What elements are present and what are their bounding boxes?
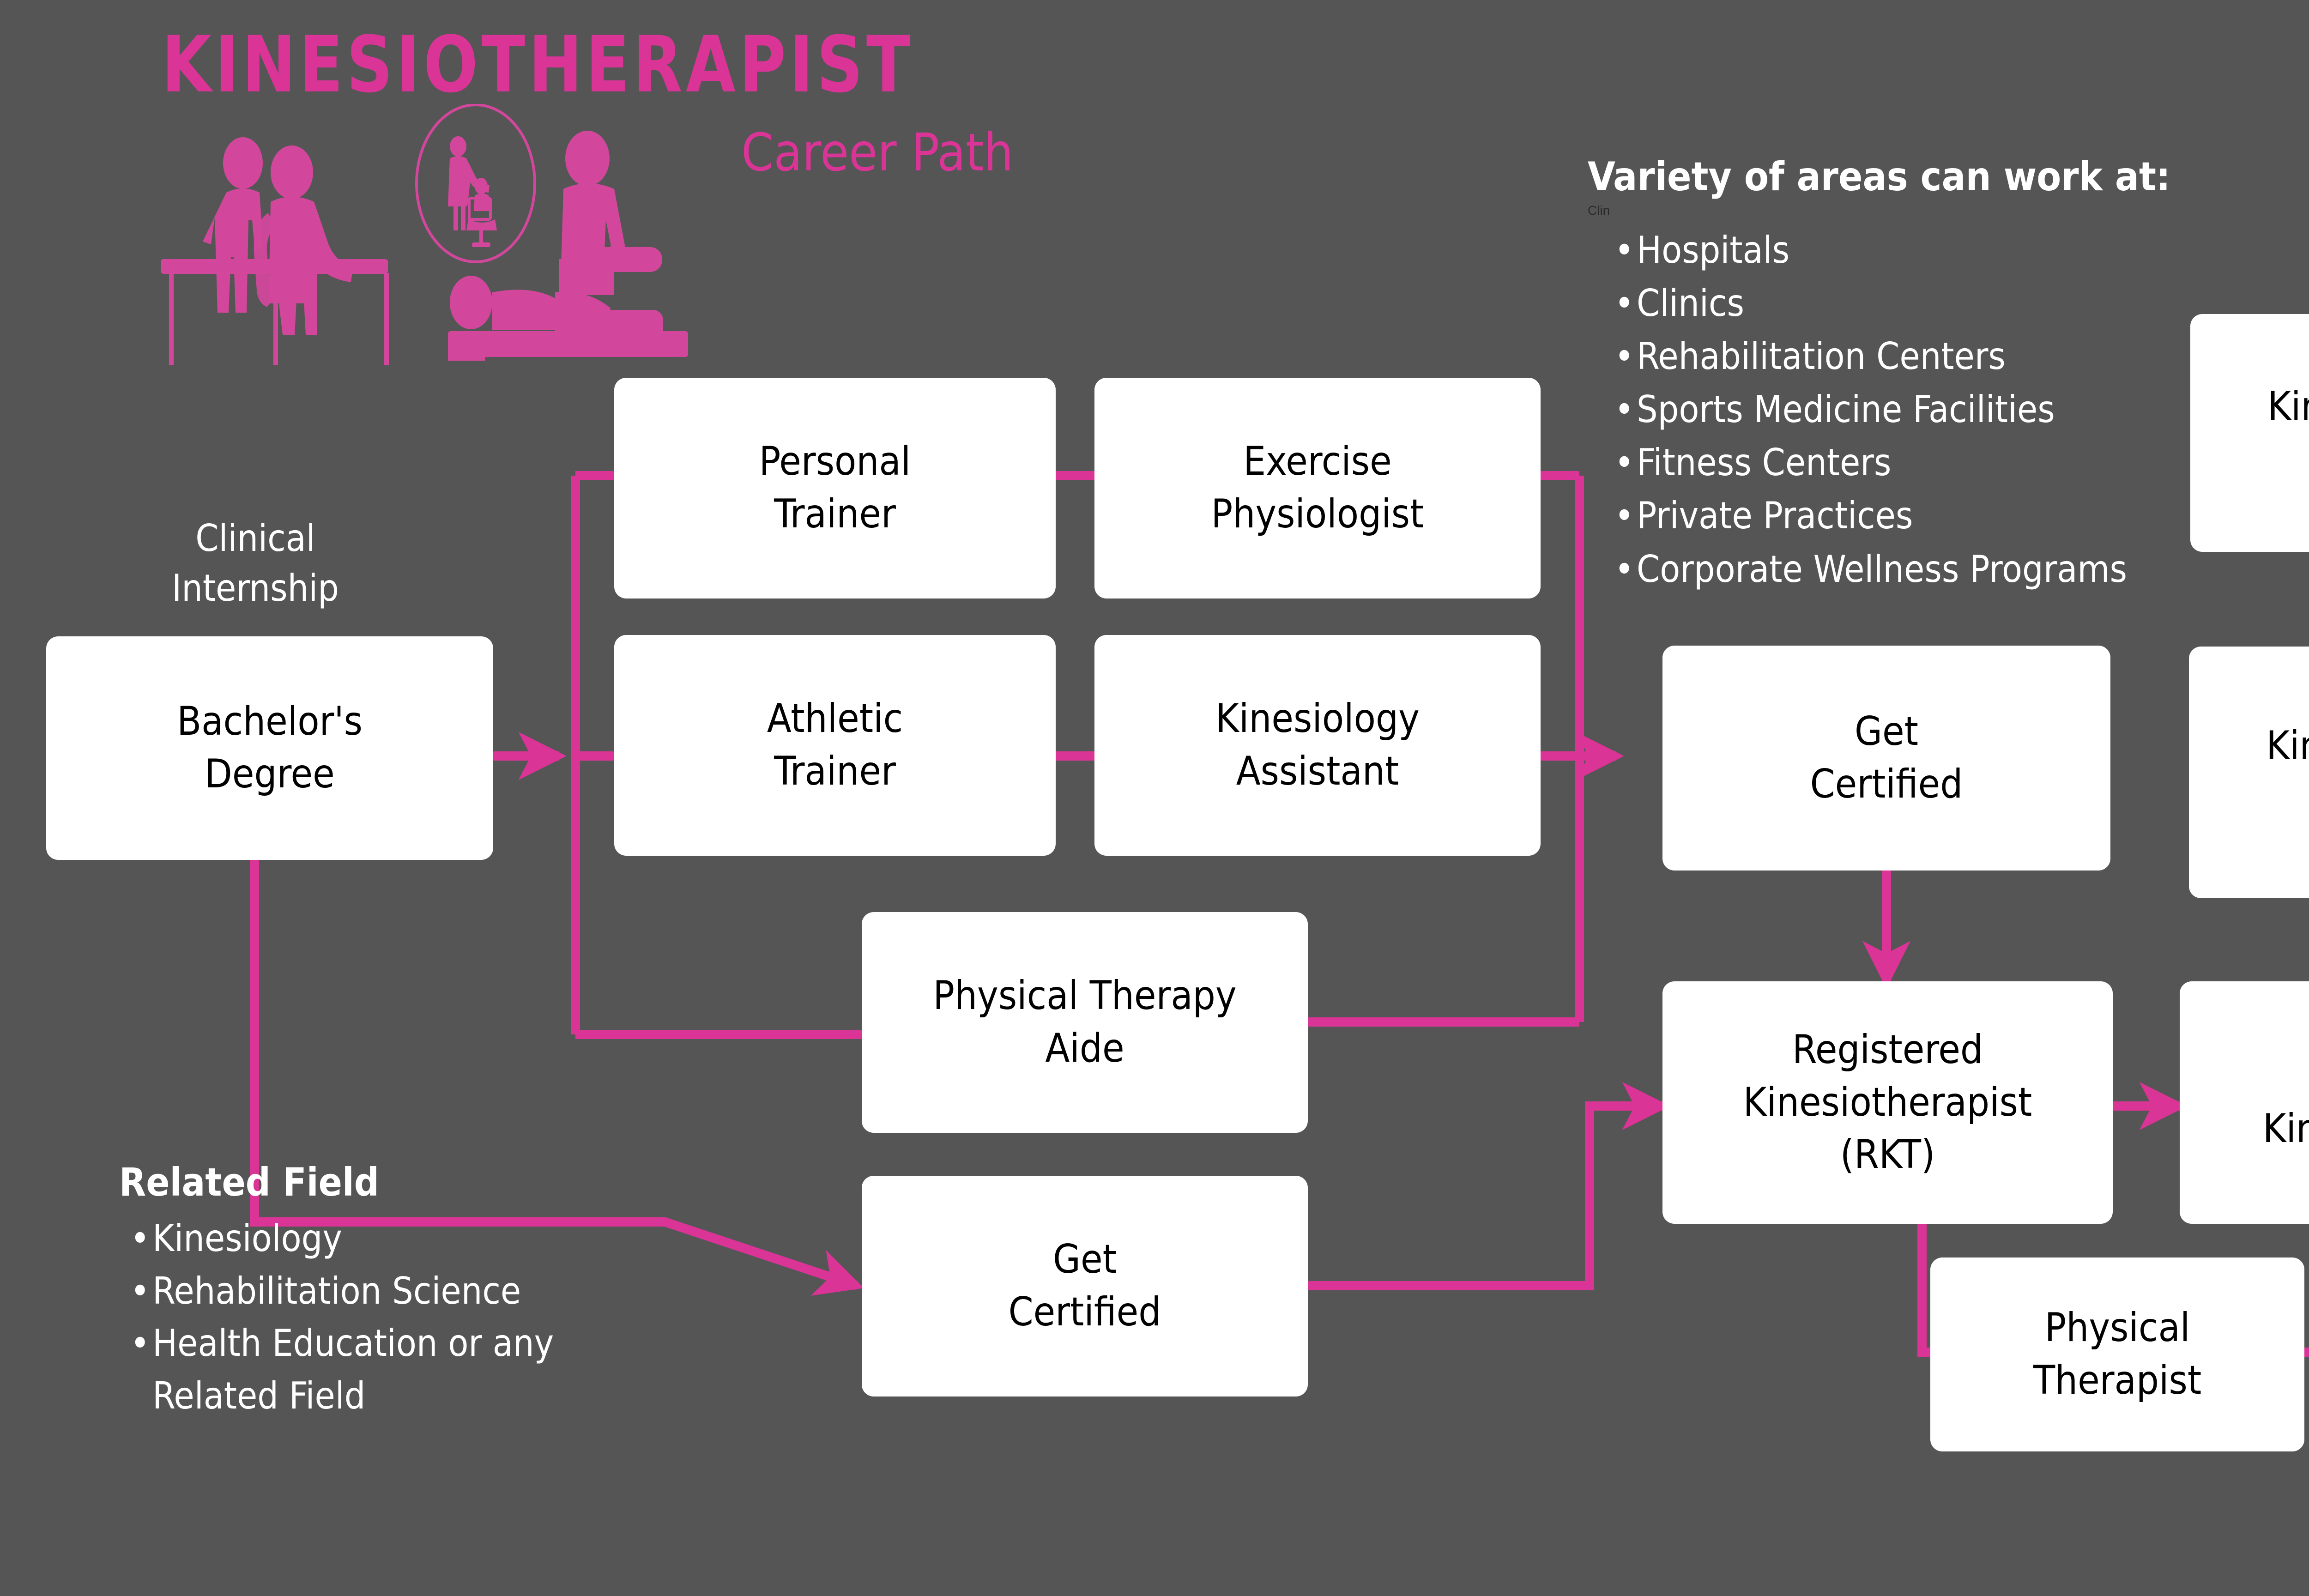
work-areas-list: Hospitals Clinics Rehabilitation Centers… [1588, 224, 2290, 596]
node-clinical-kinesiotherapist[interactable]: ClinicalKinesiotherapist [2180, 981, 2309, 1224]
node-kinesiology-assistant[interactable]: KinesiologyAssistant [1094, 635, 1541, 856]
node-get-certified-upper[interactable]: GetCertified [1662, 646, 2110, 871]
page-title: KINESIOTHERAPIST [162, 26, 913, 103]
node-personal-trainer[interactable]: PersonalTrainer [614, 378, 1056, 598]
work-areas-block: Variety of areas can work at: Hospitals … [1588, 152, 2290, 596]
list-item: Kinesiology [152, 1212, 664, 1265]
node-label: KinesiotherapistManager [2200, 381, 2309, 485]
node-get-certified-lower[interactable]: GetCertified [862, 1176, 1308, 1396]
node-label: KinesiotherapistSupervisor [2199, 720, 2309, 825]
related-field-heading: Related Field [119, 1158, 664, 1207]
node-physical-therapist[interactable]: PhysicalTherapist [1930, 1257, 2304, 1451]
node-kinesiotherapist-manager[interactable]: KinesiotherapistManager [2190, 314, 2309, 552]
node-registered-kinesiotherapist[interactable]: RegisteredKinesiotherapist(RKT) [1662, 981, 2113, 1224]
node-label: ClinicalKinesiotherapist [2190, 1050, 2309, 1155]
career-path-infographic: KINESIOTHERAPIST Career Path [0, 0, 2309, 1596]
related-field-list: Kinesiology Rehabilitation Science Healt… [119, 1212, 664, 1422]
node-label: PhysicalTherapist [1940, 1302, 2294, 1407]
list-item: Health Education or any Related Field [152, 1317, 664, 1422]
node-label: RegisteredKinesiotherapist(RKT) [1673, 1024, 2103, 1181]
node-exercise-physiologist[interactable]: ExercisePhysiologist [1094, 378, 1541, 598]
related-field-block: Related Field Kinesiology Rehabilitation… [119, 1158, 664, 1422]
node-label: KinesiologyAssistant [1105, 693, 1530, 798]
node-physical-therapy-aide[interactable]: Physical TherapyAide [862, 912, 1308, 1133]
list-item: Hospitals [1637, 224, 2290, 277]
list-item: Rehabilitation Science [152, 1265, 664, 1318]
node-athletic-trainer[interactable]: AthleticTrainer [614, 635, 1056, 856]
page-subtitle: Career Path [741, 127, 1013, 179]
node-kinesiotherapist-supervisor[interactable]: KinesiotherapistSupervisor [2189, 647, 2309, 898]
list-item: Corporate Wellness Programs [1637, 543, 2290, 596]
label-clinical-internship: ClinicalInternship [147, 514, 364, 613]
node-label: GetCertified [872, 1233, 1298, 1338]
work-areas-heading: Variety of areas can work at: [1588, 152, 2290, 202]
node-label: PersonalTrainer [624, 435, 1046, 540]
node-label: Physical TherapyAide [872, 970, 1298, 1075]
kinesiotherapy-illustration [152, 104, 707, 372]
node-label: Bachelor'sDegree [56, 695, 483, 800]
node-label: ExercisePhysiologist [1105, 435, 1530, 540]
node-label: AthleticTrainer [624, 693, 1046, 798]
node-label: GetCertified [1673, 706, 2100, 810]
node-bachelors-degree[interactable]: Bachelor'sDegree [46, 636, 493, 860]
